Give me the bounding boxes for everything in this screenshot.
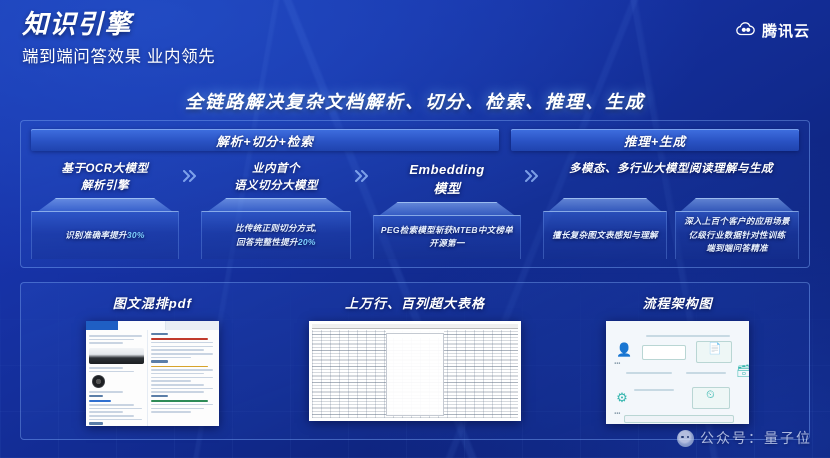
- double-chevron-right-icon: [351, 159, 373, 259]
- card-note-embedding-line1: PEG检索模型斩获MTEB中文榜单: [381, 224, 513, 238]
- doc-right-column: [148, 330, 218, 426]
- double-chevron-right-icon: [179, 159, 201, 259]
- card-title-semantic-line2: 语义切分大模型: [234, 178, 318, 195]
- flowchart-canvas: 👤 ●●● 📄 🗃 ⚙ ●●● ⏲: [612, 327, 743, 418]
- doc-body: [86, 330, 219, 426]
- pipeline-panel: 解析+切分+检索 推理+生成 基于OCR大模型 解析引擎 识别准确率提升30%: [20, 120, 810, 268]
- banner: 全链路解决复杂文档解析、切分、检索、推理、生成: [0, 88, 830, 114]
- spreadsheet-grid-wrap: [312, 324, 518, 418]
- section-headers-row: 解析+切分+检索 推理+生成: [31, 129, 799, 151]
- card-title-embedding-line1: Embedding: [409, 161, 484, 180]
- doc-tab-inactive: [118, 321, 166, 330]
- card-note-embedding: PEG检索模型斩获MTEB中文榜单 开源第一: [381, 224, 513, 251]
- card-title-embedding-line2: 模型: [409, 180, 484, 199]
- card-title-semantic-split: 业内首个 语义切分大模型: [230, 159, 322, 195]
- card-note-customers-line3: 端到端问答精准: [684, 242, 790, 256]
- page-subtitle: 端到端问答效果 业内领先: [22, 43, 215, 67]
- gallery-label-flowchart: 流程架构图: [643, 293, 713, 312]
- card-note-semantic-split: 比传统正则切分方式, 回答完整性提升20%: [235, 222, 317, 249]
- flow-doc-icon: 📄: [708, 344, 722, 355]
- doc-tab-active: [86, 321, 118, 330]
- doc-product-circle: [92, 375, 105, 388]
- pedestal-top-face: [37, 198, 173, 212]
- gallery-panel: 图文混排pdf: [20, 282, 810, 440]
- card-title-ocr-line2: 解析引擎: [61, 178, 148, 195]
- card-note-customers: 深入上百个客户的应用场景 亿级行业数据针对性训练 端到端问答精准: [684, 215, 790, 256]
- flow-node-a: [642, 345, 686, 360]
- flow-footer-bar: [624, 415, 734, 423]
- card-pedestal-ocr: 识别准确率提升30%: [31, 198, 179, 259]
- card-pedestal-embedding: PEG检索模型斩获MTEB中文榜单 开源第一: [373, 202, 521, 259]
- pedestal-body: PEG检索模型斩获MTEB中文榜单 开源第一: [373, 215, 521, 259]
- pedestal-body: 擅长复杂图文表感知与理解: [543, 211, 667, 259]
- doc-product-image: [89, 348, 145, 364]
- gallery: 图文混排pdf: [21, 283, 809, 439]
- gallery-label-table: 上万行、百列超大表格: [345, 293, 485, 312]
- card-title-semantic-line1: 业内首个: [234, 161, 318, 178]
- brand-logo: 腾讯云: [736, 20, 810, 41]
- card-title-multimodal-line1: 多模态、多行业大模型阅读理解与生成: [569, 161, 773, 178]
- brand-name: 腾讯云: [762, 20, 810, 41]
- spreadsheet-preview[interactable]: [309, 321, 521, 421]
- slide-root: 知识引擎 端到端问答效果 业内领先 腾讯云 全链路解决复杂文档解析、切分、检索、…: [0, 0, 830, 458]
- gallery-item-pdf: 图文混排pdf: [21, 283, 284, 426]
- flowchart-preview[interactable]: 👤 ●●● 📄 🗃 ⚙ ●●● ⏲: [606, 321, 749, 424]
- card-note-customers-line2: 亿级行业数据针对性训练: [684, 229, 790, 243]
- card-note-embedding-line2: 开源第一: [381, 237, 513, 251]
- section-header-generate: 推理+生成: [511, 129, 799, 151]
- pedestal-top-face: [207, 198, 345, 212]
- flow-user-icon: 👤: [616, 343, 632, 356]
- card-pedestal-semantic-split: 比传统正则切分方式, 回答完整性提升20%: [201, 198, 351, 259]
- header: 知识引擎 端到端问答效果 业内领先: [22, 10, 215, 67]
- card-title-ocr: 基于OCR大模型 解析引擎: [57, 159, 152, 195]
- banner-text: 全链路解决复杂文档解析、切分、检索、推理、生成: [185, 88, 645, 114]
- pipeline-cards: 基于OCR大模型 解析引擎 识别准确率提升30%: [31, 159, 799, 259]
- flow-filter-icon: ⏲: [706, 390, 715, 401]
- flow-gear-icon: ⚙: [616, 391, 628, 404]
- pipeline-card-embedding: Embedding 模型 PEG检索模型斩获MTEB中文榜单 开源第一: [373, 159, 521, 259]
- cloud-icon: [736, 21, 756, 41]
- doc-left-column: [86, 330, 149, 426]
- page-title: 知识引擎: [22, 10, 215, 39]
- card-note-ocr: 识别准确率提升30%: [65, 229, 145, 243]
- gallery-item-flowchart: 流程架构图 👤 ●●● 📄 🗃 ⚙ ●●●: [546, 283, 809, 424]
- pedestal-body: 深入上百个客户的应用场景 亿级行业数据针对性训练 端到端问答精准: [675, 211, 799, 259]
- pipeline-card-multimodal: 多模态、多行业大模型阅读理解与生成 擅长复杂图文表感知与理解 深入上百个客户的: [543, 159, 799, 259]
- watermark-text: 公众号：量子位: [700, 428, 812, 448]
- watermark: 公众号：量子位: [677, 428, 812, 448]
- spreadsheet-blank-column: [386, 333, 444, 416]
- pipeline-card-ocr: 基于OCR大模型 解析引擎 识别准确率提升30%: [31, 159, 179, 259]
- section-header-parse-label: 解析+切分+检索: [216, 131, 314, 150]
- pedestal-top-face: [379, 202, 515, 216]
- card-note-customers-line1: 深入上百个客户的应用场景: [684, 215, 790, 229]
- card-subpanels-multimodal: 擅长复杂图文表感知与理解 深入上百个客户的应用场景 亿级行业数据针对性训练 端到…: [543, 198, 799, 259]
- card-title-embedding: Embedding 模型: [405, 159, 488, 199]
- spreadsheet-header-row: [312, 324, 518, 329]
- gallery-item-table: 上万行、百列超大表格: [284, 283, 547, 421]
- pedestal-top-face: [548, 198, 662, 212]
- card-note-image-text: 擅长复杂图文表感知与理解: [552, 229, 658, 243]
- document-preview[interactable]: [86, 321, 219, 426]
- flow-database-icon: 🗃: [736, 365, 749, 377]
- card-title-multimodal: 多模态、多行业大模型阅读理解与生成: [565, 159, 777, 195]
- gallery-label-pdf: 图文混排pdf: [113, 293, 192, 312]
- card-subpanel-image-text: 擅长复杂图文表感知与理解: [543, 198, 667, 259]
- section-header-parse: 解析+切分+检索: [31, 129, 499, 151]
- pipeline-card-semantic-split: 业内首个 语义切分大模型 比传统正则切分方式, 回答完整性提升20%: [201, 159, 351, 259]
- double-chevron-right-icon: [521, 159, 543, 259]
- card-subpanel-customers: 深入上百个客户的应用场景 亿级行业数据针对性训练 端到端问答精准: [675, 198, 799, 259]
- pedestal-body: 识别准确率提升30%: [31, 211, 179, 259]
- pedestal-body: 比传统正则切分方式, 回答完整性提升20%: [201, 211, 351, 259]
- section-header-generate-label: 推理+生成: [624, 131, 686, 150]
- card-title-ocr-line1: 基于OCR大模型: [61, 161, 148, 178]
- wechat-avatar-icon: [677, 430, 694, 447]
- doc-tab-bar: [86, 321, 219, 330]
- card-note-semantic-line1: 比传统正则切分方式,: [235, 222, 317, 236]
- card-note-semantic-line2: 回答完整性提升20%: [235, 236, 317, 250]
- pedestal-top-face: [680, 198, 794, 212]
